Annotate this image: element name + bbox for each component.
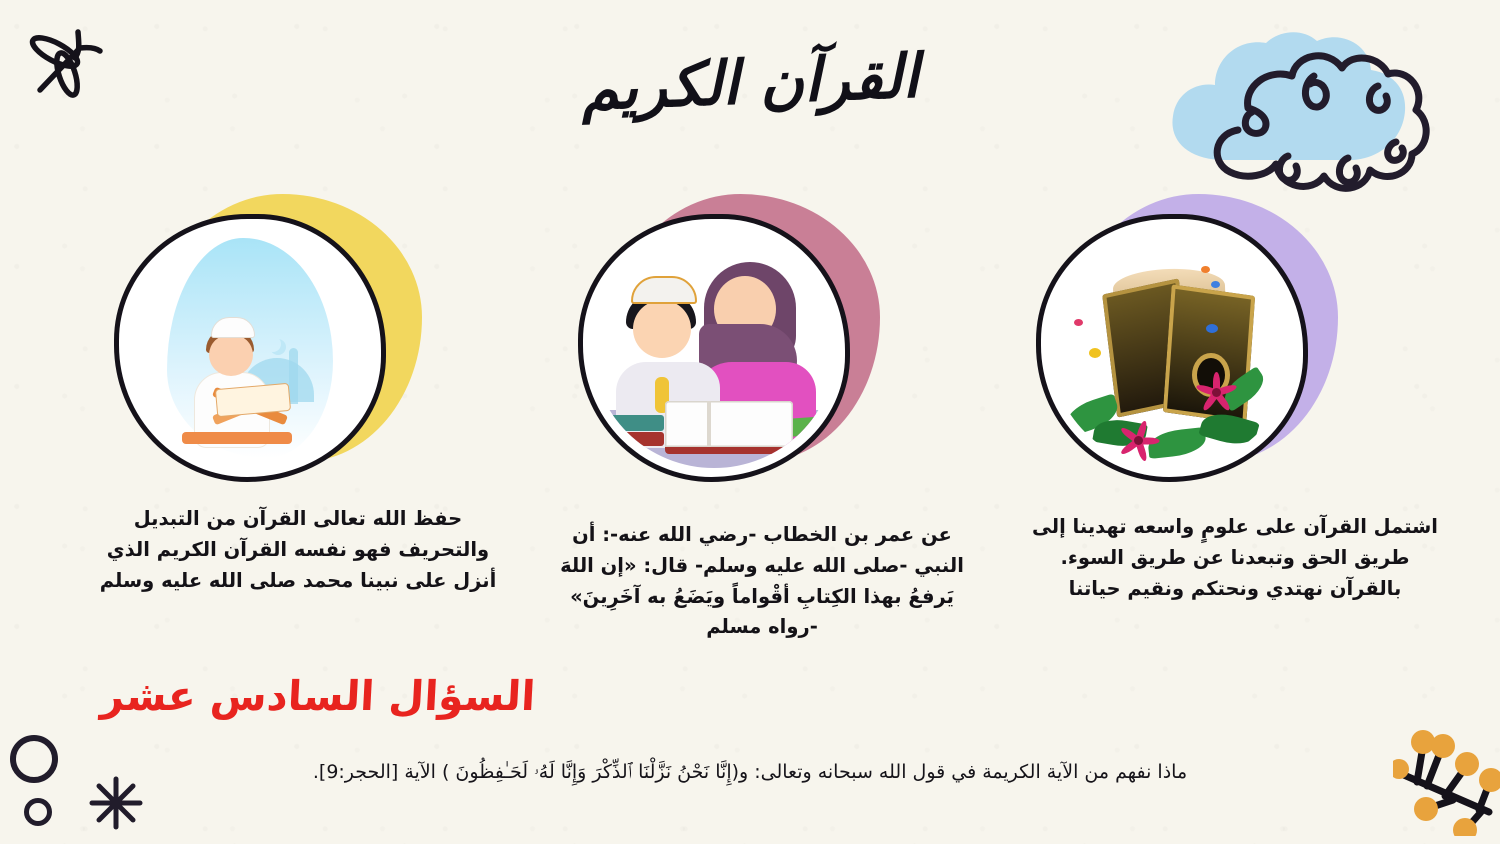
berry-branch-icon [1393, 716, 1500, 840]
caption-card-mother-teaching: عن عمر بن الخطاب -رضي الله عنه-: أن النب… [560, 520, 964, 643]
card-photo-ring [1036, 214, 1308, 482]
cloud-doodle-icon [1196, 38, 1456, 207]
card-photo [592, 228, 836, 468]
caption-card-boy-reading: اشتمل القرآن على علومٍ واسعه تهدينا إلى … [1026, 512, 1444, 604]
circle-outline-large-icon [10, 735, 58, 783]
caption-card-quran-flowers: حفظ الله تعالى القرآن من التبديل والتحري… [98, 504, 498, 596]
butterfly-icon [1211, 281, 1220, 288]
question-heading: السؤال السادس عشر [97, 672, 540, 720]
open-book-icon [665, 401, 793, 454]
card-photo-ring [578, 214, 850, 482]
butterfly-icon [1074, 319, 1083, 326]
boy-face [209, 334, 253, 376]
kufi-cap-icon [631, 276, 697, 304]
illustration-cards-row [0, 186, 1500, 516]
book-stack-item [602, 432, 664, 446]
lily-flower-icon [1196, 372, 1236, 412]
lily-flower-icon [1118, 420, 1158, 460]
card-photo-ring [114, 214, 386, 482]
question-body: ماذا نفهم من الآية الكريمة في قول الله س… [170, 758, 1330, 787]
card-photo [1050, 228, 1294, 468]
slide-canvas: القرآن الكريم [0, 0, 1500, 844]
card-photo [128, 228, 372, 468]
book-spine [707, 401, 711, 447]
boy-face [633, 300, 691, 358]
card-boy-reading [96, 186, 426, 506]
asterisk-doodle-icon [88, 775, 144, 831]
prayer-mat [182, 432, 292, 444]
book-stack-item [602, 415, 664, 431]
circle-outline-small-icon [24, 798, 52, 826]
dragonfly-icon [22, 18, 118, 114]
crescent-moon-icon [265, 336, 281, 352]
butterfly-icon [1089, 348, 1101, 358]
card-quran-flowers [1018, 186, 1348, 506]
card-mother-teaching [560, 186, 890, 506]
